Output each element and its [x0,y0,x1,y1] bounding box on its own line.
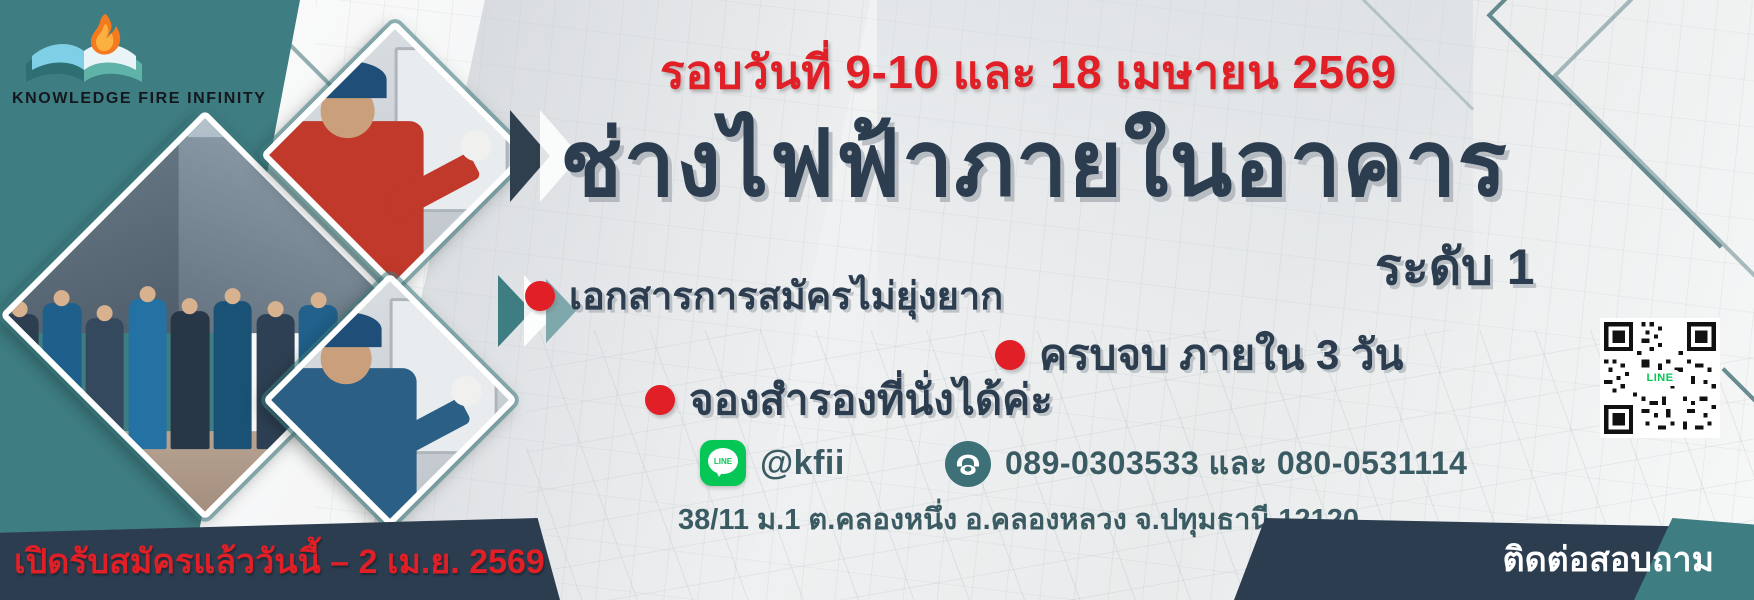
telephone-icon [945,441,991,487]
feature-bullet-2: ครบจบ ภายใน 3 วัน [995,322,1403,388]
feature-bullet-1-label: เอกสารการสมัครไม่ยุ่งยาก [569,265,1003,326]
phone-contact[interactable]: 089-0303533 และ 080-0531114 [945,438,1467,489]
contact-us-label: ติดต่อสอบถาม [1502,532,1714,586]
feature-bullet-3-label: จองสำรองที่นั่งได้ค่ะ [689,367,1053,433]
red-dot-icon [525,281,555,311]
office-address: 38/11 ม.1 ต.คลองหนึ่ง อ.คลองหลวง จ.ปทุมธ… [678,496,1359,542]
feature-bullet-1: เอกสารการสมัครไม่ยุ่งยาก [525,265,1003,326]
line-id-label: @kfii [760,444,845,483]
line-app-icon: LINE [700,440,746,486]
page-title: ช่างไฟฟ้าภายในอาคาร [560,118,1508,210]
registration-open-label: เปิดรับสมัครแล้ววันนี้ – 2 เม.ย. 2569 [14,534,545,588]
feature-bullet-3: จองสำรองที่นั่งได้ค่ะ [645,367,1053,433]
feature-bullet-2-label: ครบจบ ภายใน 3 วัน [1039,322,1403,388]
phone-numbers-label: 089-0303533 และ 080-0531114 [1005,438,1467,489]
open-book-flame-icon [18,8,158,88]
svg-text:LINE: LINE [714,457,733,466]
brand-logo: KNOWLEDGE FIRE INFINITY [8,6,258,118]
red-dot-icon [995,340,1025,370]
qr-line-label: LINE [1640,370,1679,386]
qr-code-icon[interactable]: LINE [1600,318,1720,438]
course-level: ระดับ 1 [1375,228,1535,307]
promotional-banner: KNOWLEDGE FIRE INFINITY [0,0,1754,600]
course-date-line: รอบวันที่ 9-10 และ 18 เมษายน 2569 [660,36,1397,109]
line-contact[interactable]: LINE @kfii [700,440,845,486]
brand-name: KNOWLEDGE FIRE INFINITY [12,90,267,108]
red-dot-icon [645,385,675,415]
